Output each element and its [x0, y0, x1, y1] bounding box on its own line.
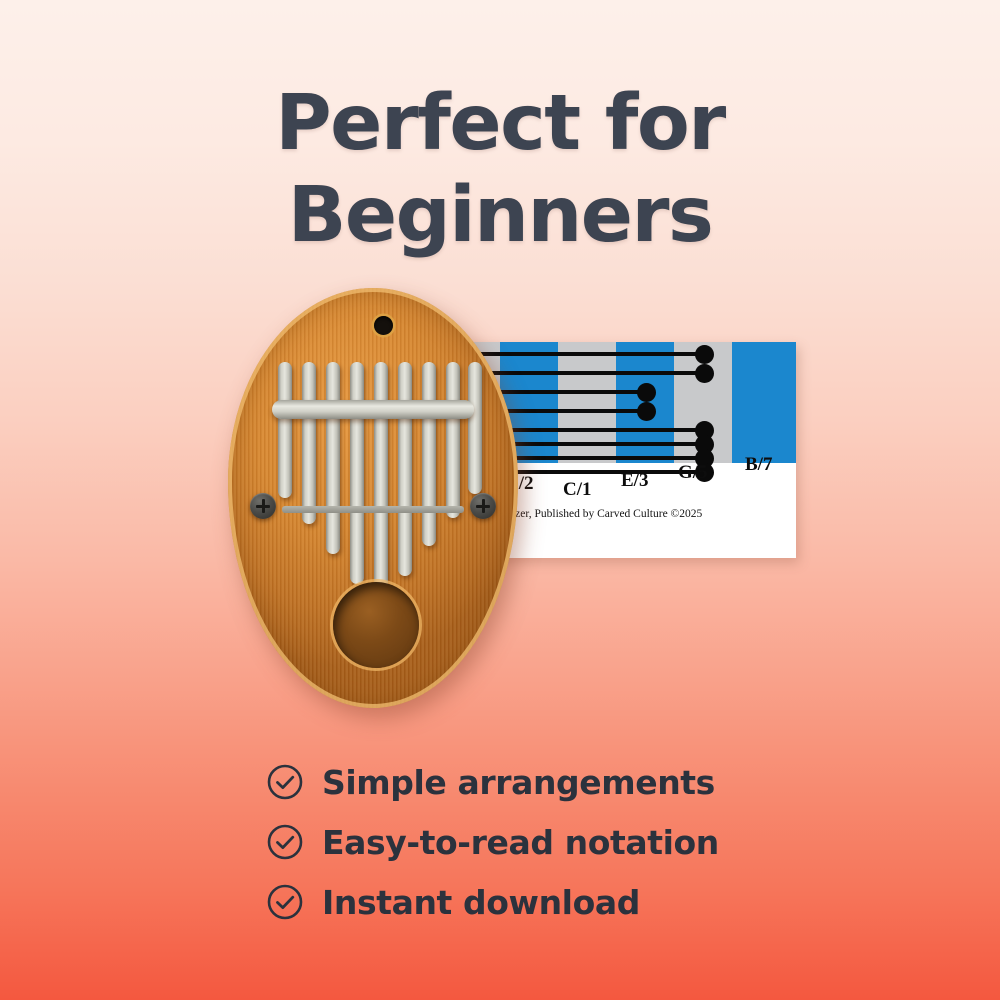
screw-left — [250, 493, 276, 519]
circle-check-icon — [266, 823, 304, 861]
promo-graphic: Perfect for Beginners F/4D/2C/1E/3G/5B/7… — [0, 0, 1000, 1000]
notehead — [637, 402, 656, 421]
kalimba-tine — [350, 362, 364, 584]
top-sound-hole — [374, 316, 393, 335]
note-label-B-7: B/7 — [745, 454, 772, 476]
lower-bar — [282, 506, 464, 513]
kalimba-tine — [278, 362, 292, 498]
kalimba-tine — [374, 362, 388, 604]
bridge-bar — [272, 400, 474, 419]
headline-line-2: Beginners — [0, 170, 1000, 262]
kalimba-tine — [422, 362, 436, 546]
notehead — [637, 383, 656, 402]
kalimba-tine — [326, 362, 340, 554]
notation-column-B-7 — [732, 342, 796, 463]
kalimba-instrument — [228, 288, 518, 708]
screw-right — [470, 493, 496, 519]
bottom-sound-hole — [333, 582, 419, 668]
kalimba-tine — [446, 362, 460, 518]
feature-label: Simple arrangements — [322, 763, 715, 802]
feature-item: Simple arrangements — [266, 752, 786, 812]
feature-label: Easy-to-read notation — [322, 823, 719, 862]
kalimba-tine — [398, 362, 412, 576]
headline-line-1: Perfect for — [0, 78, 1000, 170]
note-label-E-3: E/3 — [621, 470, 648, 492]
feature-item: Instant download — [266, 872, 786, 932]
page-title: Perfect for Beginners — [0, 78, 1000, 262]
circle-check-icon — [266, 763, 304, 801]
note-label-C-1: C/1 — [563, 479, 592, 501]
note-label-G-5: G/5 — [678, 462, 708, 484]
feature-item: Easy-to-read notation — [266, 812, 786, 872]
feature-label: Instant download — [322, 883, 640, 922]
kalimba-tine — [302, 362, 316, 524]
feature-list: Simple arrangementsEasy-to-read notation… — [266, 752, 786, 932]
circle-check-icon — [266, 883, 304, 921]
kalimba-tine — [468, 362, 482, 494]
notehead — [695, 345, 714, 364]
notehead — [695, 364, 714, 383]
